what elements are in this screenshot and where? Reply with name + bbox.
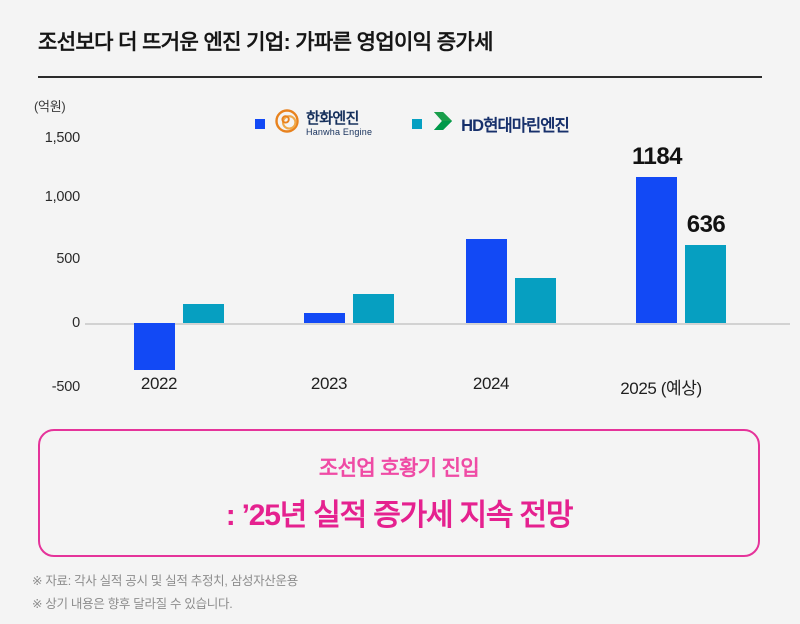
footnotes: ※ 자료: 각사 실적 공시 및 실적 추정치, 삼성자산운용 ※ 상기 내용은… (32, 570, 732, 616)
y-tick-500: 500 (20, 251, 80, 267)
x-axis-labels: 2022 2023 2024 2025 (예상) (85, 374, 790, 404)
title-divider (38, 76, 762, 78)
callout-line-2: : ’25년 실적 증가세 지속 전망 (226, 490, 573, 534)
bar-hanwha-2022 (134, 323, 175, 370)
y-axis-tick-labels: 1,500 1,000 500 0 -500 (18, 86, 80, 416)
bar-value-label-hanwha-2025: 1184 (612, 143, 702, 171)
bar-hd-2024 (515, 278, 556, 323)
callout-box: 조선업 호황기 진입 : ’25년 실적 증가세 지속 전망 (38, 429, 760, 557)
bar-hd-2025 (685, 245, 726, 323)
callout-line-1: 조선업 호황기 진입 (319, 452, 479, 482)
bar-value-label-hd-2025: 636 (661, 211, 751, 239)
title-block: 조선보다 더 뜨거운 엔진 기업: 가파른 영업이익 증가세 (38, 26, 762, 56)
y-tick--500: -500 (20, 379, 80, 395)
x-label-2023: 2023 (254, 374, 404, 394)
chart-area: (억원) 1,500 1,000 500 0 -500 1184 636 202… (0, 86, 800, 416)
bar-hanwha-2025 (636, 177, 677, 323)
bar-hanwha-2024 (466, 239, 507, 323)
page-title: 조선보다 더 뜨거운 엔진 기업: 가파른 영업이익 증가세 (38, 26, 762, 56)
y-tick-0: 0 (20, 315, 80, 331)
bar-hanwha-2023 (304, 313, 345, 323)
x-label-2022: 2022 (84, 374, 234, 394)
plot-bars: 1184 636 (85, 86, 790, 416)
footnote-disclaimer: ※ 상기 내용은 향후 달라질 수 있습니다. (32, 593, 732, 616)
bar-hd-2022 (183, 304, 224, 323)
bar-hd-2023 (353, 294, 394, 323)
x-label-2024: 2024 (416, 374, 566, 394)
y-tick-1000: 1,000 (20, 189, 80, 205)
y-tick-1500: 1,500 (20, 130, 80, 146)
x-label-2025: 2025 (예상) (586, 374, 736, 399)
footnote-source: ※ 자료: 각사 실적 공시 및 실적 추정치, 삼성자산운용 (32, 570, 732, 593)
